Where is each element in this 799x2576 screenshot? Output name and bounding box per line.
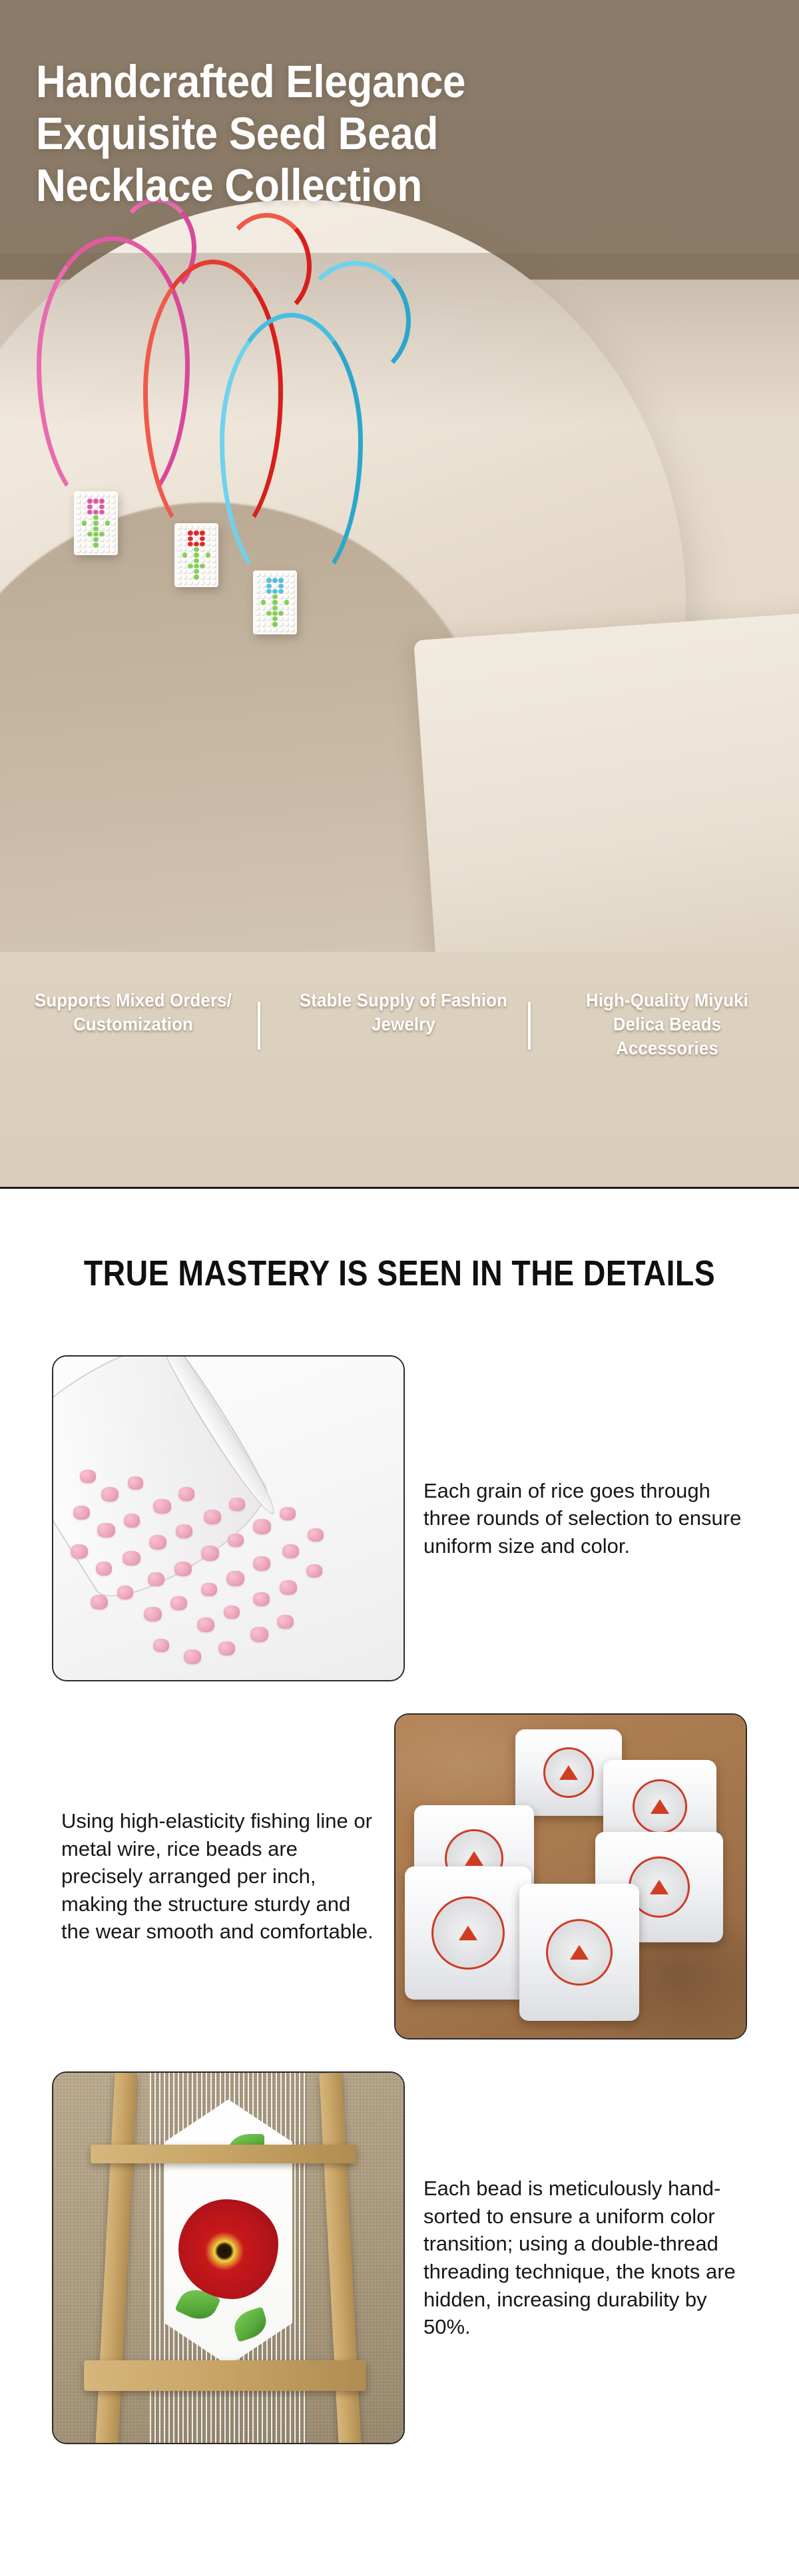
bead-pile [53,1357,403,1680]
spool-label [546,1919,613,1986]
red-cord-tail [222,213,312,320]
spool-label [633,1779,687,1834]
hero-title: Handcrafted Elegance Exquisite Seed Bead… [36,56,647,212]
hero-banner: Handcrafted Elegance Exquisite Seed Bead… [0,0,799,1189]
details-section: TRUE MASTERY IS SEEN IN THE DETAILS [0,1189,799,2576]
thumb-elastic-line-spools [394,1713,747,2039]
detail-row-hand-sorting: Each bead is meticulously hand-sorted to… [0,2071,799,2444]
hero-title-line-3: Necklace Collection [36,160,422,211]
detail-row-fishing-line: Using high-elasticity fishing line or me… [0,1713,799,2039]
detail-row-bead-selection: Each grain of rice goes through three ro… [0,1355,799,1681]
beaded-band [164,2099,292,2366]
feature-stable-supply: Stable Supply of Fashion Jewelry [293,988,513,1036]
pink-pendant [74,491,118,555]
detail-text-hand-sorting: Each bead is meticulously hand-sorted to… [423,2175,799,2340]
leaf-lower-right [230,2306,270,2342]
blue-pendant [253,570,297,634]
details-section-title: TRUE MASTERY IS SEEN IN THE DETAILS [56,1253,743,1294]
red-pendant [174,523,218,587]
feature-divider-1 [258,1002,260,1050]
feature-miyuki-beads: High-Quality Miyuki Delica Beads Accesso… [563,988,772,1060]
spool-front-center [519,1884,639,2021]
spool-label [543,1747,594,1798]
hero-feature-strip: Supports Mixed Orders/ Customization Sta… [0,988,799,1060]
spool-label [431,1896,505,1970]
elastic-line-spools-image [396,1715,746,2038]
spool-front-left [405,1866,531,2000]
blue-cord-tail [301,261,411,381]
hero-title-line-2: Exquisite Seed Bead [36,108,438,159]
bead-loom-image [53,2073,403,2443]
hero-floor [0,952,799,1189]
detail-text-bead-selection: Each grain of rice goes through three ro… [423,1477,799,1560]
pink-seed-beads-image [53,1357,403,1680]
detail-text-fishing-line: Using high-elasticity fishing line or me… [0,1807,376,1946]
loom-cross-bar-top [91,2145,357,2163]
feature-divider-2 [528,1002,531,1050]
hero-title-line-1: Handcrafted Elegance [36,56,465,107]
thumb-bead-loom [52,2071,405,2444]
product-detail-page: Handcrafted Elegance Exquisite Seed Bead… [0,0,799,2576]
feature-mixed-orders: Supports Mixed Orders/ Customization [23,988,243,1036]
poppy-flower [178,2199,278,2299]
thumb-pink-seed-beads [52,1355,405,1681]
loom-cross-bar-bottom [84,2360,366,2391]
